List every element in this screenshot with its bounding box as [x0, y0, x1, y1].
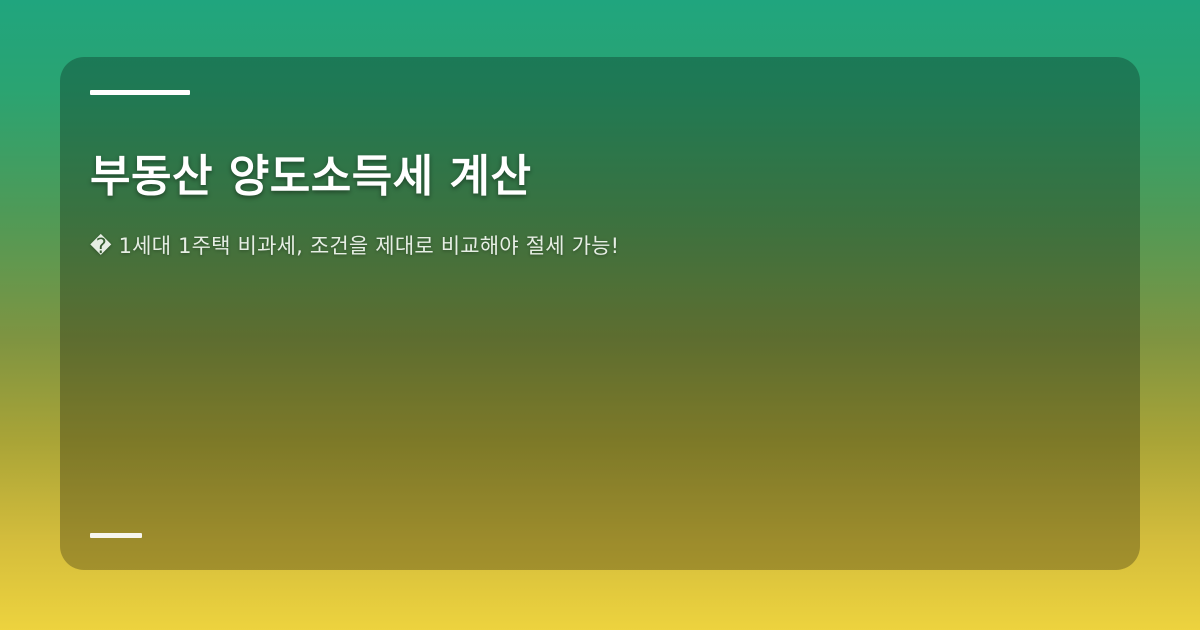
bottom-accent-rule — [90, 533, 142, 538]
top-accent-rule — [90, 90, 190, 95]
page-subtitle: � 1세대 1주택 비과세, 조건을 제대로 비교해야 절세 가능! — [90, 203, 1100, 261]
content-card: 부동산 양도소득세 계산 � 1세대 1주택 비과세, 조건을 제대로 비교해야… — [60, 57, 1140, 570]
social-card-banner: 부동산 양도소득세 계산 � 1세대 1주택 비과세, 조건을 제대로 비교해야… — [0, 0, 1200, 630]
text-block: 부동산 양도소득세 계산 � 1세대 1주택 비과세, 조건을 제대로 비교해야… — [90, 151, 1100, 261]
page-title: 부동산 양도소득세 계산 — [90, 151, 1100, 203]
